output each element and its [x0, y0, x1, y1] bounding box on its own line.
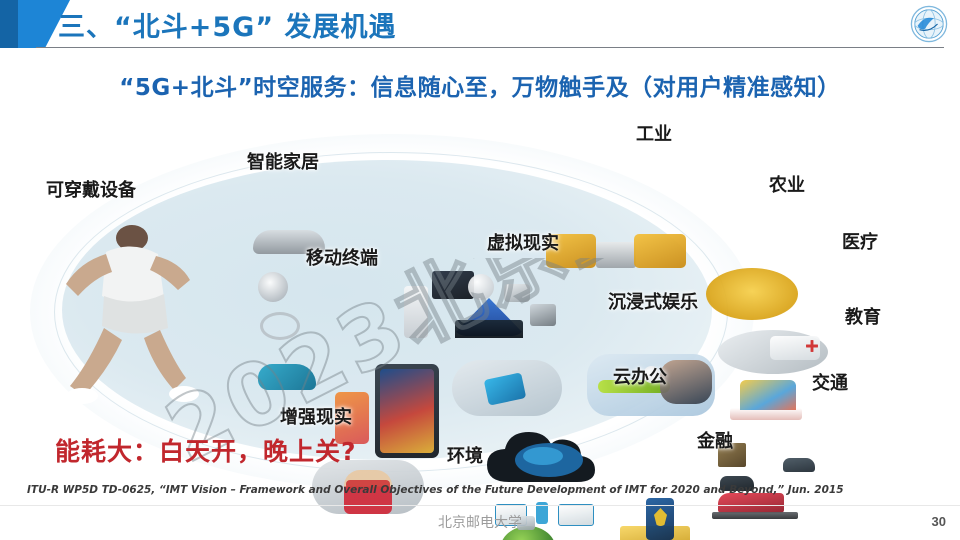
car-right-image [783, 458, 815, 472]
label-education: 教育 [845, 303, 881, 329]
label-virtual-reality: 虚拟现实 [487, 229, 559, 255]
runner-figure-image [60, 208, 200, 408]
label-augmented-reality: 增强现实 [280, 403, 352, 429]
label-healthcare: 医疗 [842, 228, 878, 254]
page-number: 30 [932, 514, 946, 529]
label-agriculture: 农业 [769, 171, 805, 197]
smart-fridge-image [404, 286, 428, 338]
label-immersive-entertainment: 沉浸式娱乐 [608, 288, 698, 314]
footer-divider [0, 505, 960, 506]
industrial-pipes-image [596, 242, 636, 268]
diagram-stage: 可穿戴设备 智能家居 移动终端 工业 农业 虚拟现实 医疗 沉浸式娱乐 教育 云… [0, 108, 960, 478]
page-title: 三、“北斗+5G” 发展机遇 [58, 5, 396, 44]
header-divider [36, 47, 944, 48]
smartwatch-image [258, 272, 288, 302]
slide-header: 三、“北斗+5G” 发展机遇 [0, 0, 960, 52]
projector-image [504, 284, 530, 302]
train-image [718, 493, 784, 513]
robot-image [468, 274, 494, 300]
running-shoe-image [258, 364, 316, 390]
tablet-screen-image [380, 369, 434, 453]
education-tools-image [740, 380, 796, 410]
vr-audience-image [455, 320, 523, 338]
wheat-field-image [706, 268, 798, 320]
monitor-image [530, 304, 556, 326]
globe-logo-icon [910, 5, 948, 43]
excavator-right-image [634, 234, 686, 268]
label-mobile-terminal: 移动终端 [306, 244, 378, 270]
energy-warning-text: 能耗大：白天开，晚上关? [55, 432, 357, 468]
slide-root: 三、“北斗+5G” 发展机遇 “5G+北斗”时空服务：信息随心至，万物触手及（对… [0, 0, 960, 540]
slide-subtitle: “5G+北斗”时空服务：信息随心至，万物触手及（对用户精准感知） [0, 68, 960, 102]
organization-name: 北京邮电大学 [0, 512, 960, 532]
label-smart-home: 智能家居 [247, 148, 319, 174]
immersive-person-image [660, 360, 712, 404]
source-citation: ITU-R WP5D TD-0625, “IMT Vision – Framew… [27, 484, 927, 496]
label-industry: 工业 [636, 120, 672, 146]
label-finance: 金融 [697, 427, 733, 453]
label-environment: 环境 [447, 442, 483, 468]
label-cloud-office: 云办公 [613, 363, 667, 389]
fitness-band-image [260, 312, 300, 340]
label-transportation: 交通 [812, 369, 848, 395]
label-wearable-devices: 可穿戴设备 [46, 176, 136, 202]
